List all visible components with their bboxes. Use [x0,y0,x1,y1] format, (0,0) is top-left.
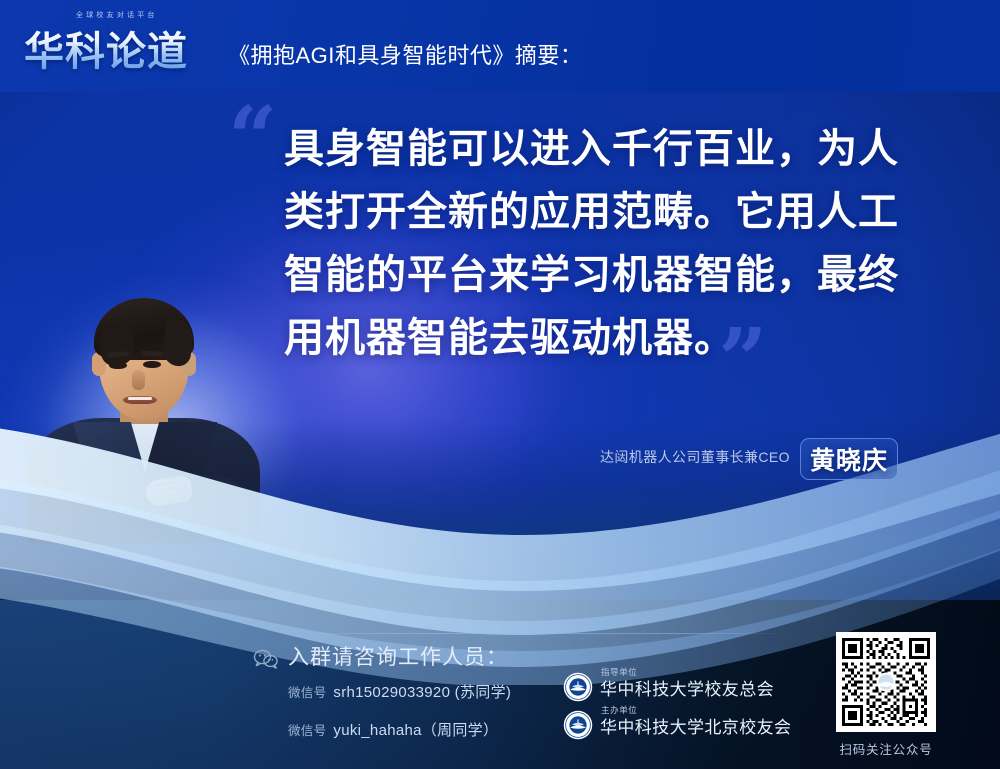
speaker-role: 达闼机器人公司董事长兼CEO [600,447,790,467]
quote-line: 智能的平台来学习机器智能，最终 [284,244,944,307]
quote-open-mark: “ [228,96,277,182]
quote-line: 具身智能可以进入千行百业，为人 [284,118,944,181]
organization-name: 华中科技大学北京校友会 [600,715,791,736]
qr-section: 扫码关注公众号 [836,632,936,758]
qr-caption: 扫码关注公众号 [836,739,936,758]
organization-kind: 指导单位 [601,666,637,678]
speaker-name-badge: 黄晓庆 [800,438,898,480]
speaker-portrait [28,278,260,540]
wechat-label: 微信号 [288,724,326,738]
brand-logo[interactable]: 全球校友对话平台 华科论道 [24,8,214,78]
speaker-name: 黄晓庆 [810,441,888,477]
wechat-id: yuki_hahaha（周同学） [333,722,498,739]
wechat-label: 微信号 [288,686,326,700]
footer-heading: 入群请咨询工作人员： [288,641,508,671]
organization-kind: 主办单位 [601,704,637,716]
wechat-contact-row[interactable]: 微信号srh15029033920 (苏同学) [288,681,511,702]
wechat-icon [253,648,279,670]
header-bar: 全球校友对话平台 华科论道 《拥抱AGI和具身智能时代》摘要： [0,0,1000,92]
hust-seal-icon [563,710,593,740]
organization-name: 华中科技大学校友总会 [600,677,774,698]
hust-seal-icon [563,672,593,702]
quote-text: 具身智能可以进入千行百业，为人 类打开全新的应用范畴。它用人工 智能的平台来学习… [284,118,944,370]
organization-item: 指导单位 华中科技大学校友总会 [563,672,774,702]
wechat-id: srh15029033920 (苏同学) [333,684,511,701]
footer-divider [290,633,784,634]
organization-item: 主办单位 华中科技大学北京校友会 [563,710,791,740]
qr-code-icon[interactable] [836,632,936,732]
page-title: 《拥抱AGI和具身智能时代》摘要： [228,38,582,70]
logo-wordmark: 华科论道 [24,19,188,77]
quote-line: 类打开全新的应用范畴。它用人工 [284,181,944,244]
quote-line: 用机器智能去驱动机器。 [284,307,944,370]
wechat-contact-row[interactable]: 微信号yuki_hahaha（周同学） [288,719,498,740]
poster-canvas: 全球校友对话平台 华科论道 《拥抱AGI和具身智能时代》摘要： “ ” 具身智能… [0,0,1000,769]
